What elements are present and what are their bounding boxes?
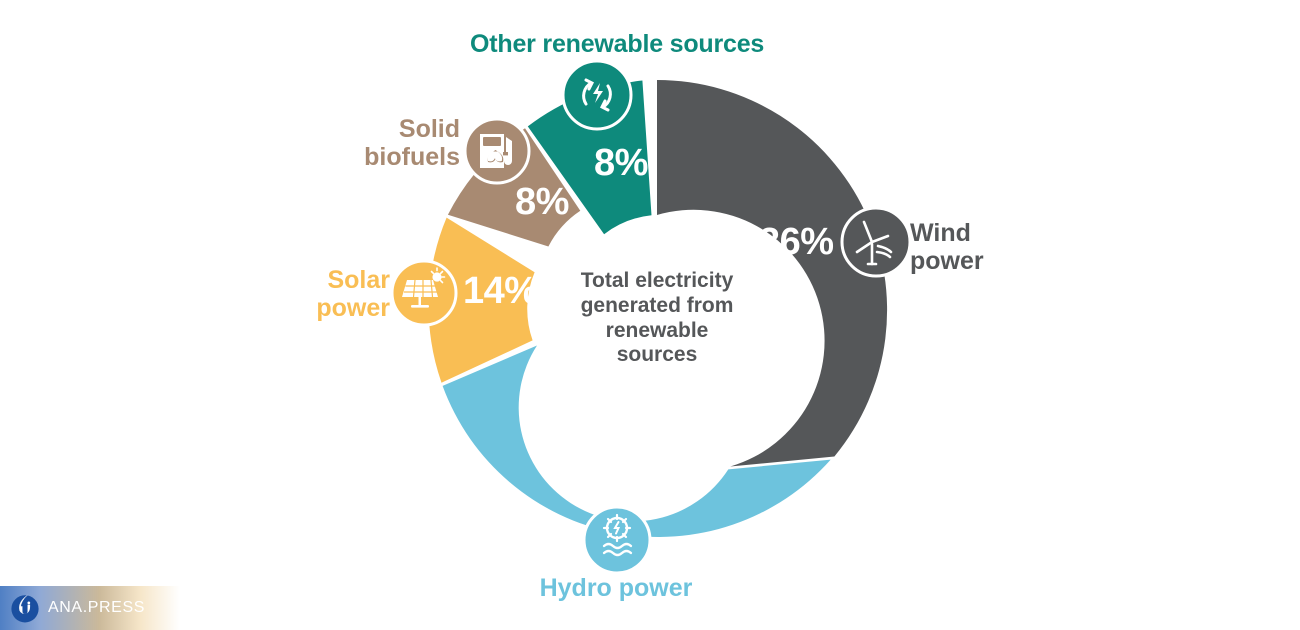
infographic-canvas: Other renewable sources Wind power Solar…	[0, 0, 1300, 630]
solid-biofuels-icon-badge[interactable]	[465, 119, 529, 183]
fuel-pump-leaf-icon	[480, 134, 512, 168]
hydro-power-icon-badge[interactable]	[584, 507, 650, 573]
value-solid-biofuels: 8%	[515, 183, 569, 221]
other-renewables-icon-badge[interactable]	[563, 61, 631, 129]
donut-center-label: Total electricity generated from renewab…	[563, 269, 751, 368]
wind-power-icon-badge[interactable]	[842, 208, 910, 276]
value-other-renewables: 8%	[594, 144, 648, 182]
ana-press-logo	[8, 591, 42, 625]
label-wind-power: Wind power	[910, 219, 984, 275]
label-solid-biofuels: Solid biofuels	[310, 115, 460, 171]
label-hydro-power: Hydro power	[500, 574, 732, 602]
value-solar-power: 14%	[463, 272, 538, 310]
headline-other-renewable-sources: Other renewable sources	[470, 30, 764, 58]
solar-power-icon-badge[interactable]	[392, 261, 456, 325]
value-hydro-power: 33%	[571, 450, 646, 488]
watermark-bar: ANA.PRESS	[0, 586, 180, 630]
slice-hydro[interactable]	[443, 346, 831, 537]
value-wind-power: 36%	[759, 223, 834, 261]
label-solar-power: Solar power	[250, 266, 390, 322]
watermark-text: ANA.PRESS	[48, 599, 145, 617]
